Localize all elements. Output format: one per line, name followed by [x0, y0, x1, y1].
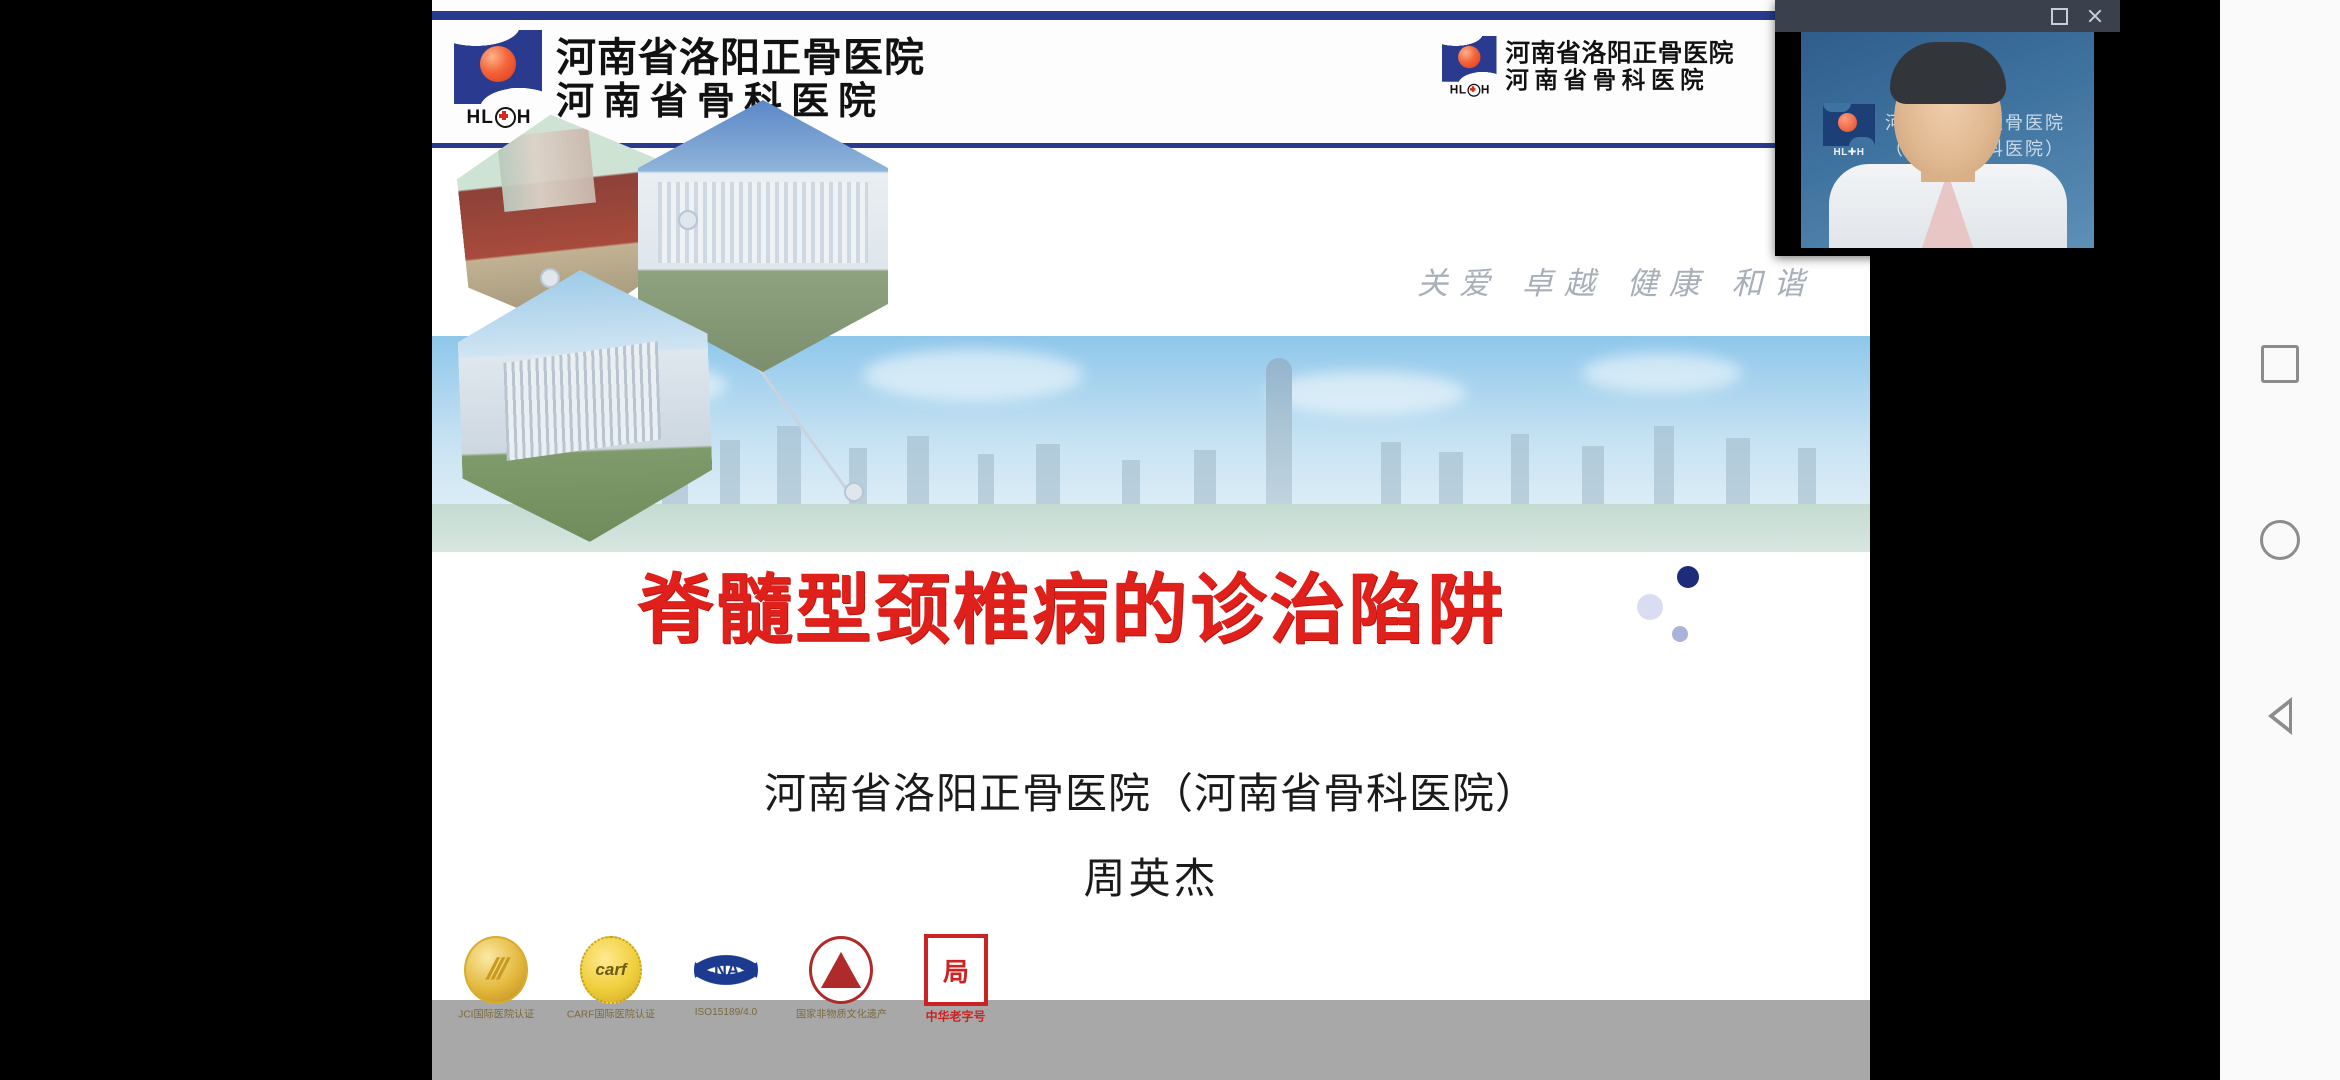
presenter-hair [1890, 42, 2006, 104]
collage-node-1 [678, 210, 698, 230]
maximize-icon[interactable] [2048, 5, 2070, 27]
letterbox-left [0, 0, 432, 1080]
decorative-dot-navy [1677, 566, 1699, 588]
decorative-dot-medium [1672, 626, 1688, 642]
badge-cnas: CNAS ISO15189/4.0 [687, 938, 765, 1018]
cnas-logo-icon: CNAS [694, 941, 758, 999]
android-navigation-bar[interactable] [2220, 0, 2340, 1080]
pip-video-frame: HL✚H 河南省洛阳正骨医院 （河南省骨科医院） [1801, 32, 2094, 248]
hospital-name-secondary-line2: 河南省骨科医院 [1505, 68, 1734, 94]
hospital-name-line1: 河南省洛阳正骨医院 [556, 36, 925, 81]
backdrop-logo-icon: HL✚H [1823, 104, 1875, 162]
badge-time-honored: 局 中华老字号 [917, 938, 995, 1025]
corn-tower-icon [1266, 358, 1292, 518]
badge-jci-seal: /// JCI国际医院认证 [457, 938, 535, 1022]
hospital-motto: 关爱 卓越 健康 和谐 [1417, 258, 1816, 303]
collage-node-3 [844, 482, 864, 502]
badge-caption: ISO15189/4.0 [695, 1006, 757, 1017]
back-button[interactable] [2253, 689, 2307, 743]
badge-caption: 中华老字号 [926, 1007, 986, 1024]
home-button[interactable] [2253, 513, 2307, 567]
triangle-back-icon [2268, 697, 2292, 735]
hospital-name-secondary: 河南省洛阳正骨医院 河南省骨科医院 [1505, 40, 1734, 94]
badge-caption: JCI国际医院认证 [458, 1007, 534, 1022]
badge-caption: 国家非物质文化遗产 [795, 1007, 886, 1022]
decorative-dot-light [1637, 594, 1663, 620]
badge-carf-seal: carf CARF国际医院认证 [572, 938, 650, 1022]
badge-caption: CARF国际医院认证 [567, 1007, 655, 1022]
logo-wordmark-right-secondary: H [1481, 84, 1490, 96]
badge-national-seal: 国家非物质文化遗产 [802, 938, 880, 1022]
presentation-slide[interactable]: HL H 河南省洛阳正骨医院 河南省骨科医院 HL [432, 0, 1870, 1080]
logo-wordmark-left-secondary: HL [1450, 84, 1467, 96]
circle-icon [2260, 520, 2300, 560]
hospital-name-secondary-line1: 河南省洛阳正骨医院 [1505, 40, 1734, 68]
backdrop-logo-wordmark: HL✚H [1823, 147, 1875, 158]
collage-node-2 [540, 268, 560, 288]
square-icon [2261, 345, 2299, 383]
institution-name: 河南省洛阳正骨医院（河南省骨科医院） [432, 760, 1870, 821]
close-icon[interactable] [2084, 5, 2106, 27]
heritage-seal-icon [809, 936, 873, 1004]
medical-cross-icon-secondary [1467, 83, 1480, 96]
pip-title-bar[interactable] [1775, 0, 2120, 32]
time-honored-seal-icon: 局 [924, 934, 988, 1006]
hloh-logo-icon-secondary: HL H [1442, 36, 1497, 98]
carf-seal-icon: carf [580, 936, 642, 1004]
jci-seal-icon: /// [464, 936, 528, 1004]
pip-video-surface[interactable]: HL✚H 河南省洛阳正骨医院 （河南省骨科医院） [1775, 32, 2120, 256]
header-rule-top [432, 11, 1870, 20]
presenter-name: 周英杰 [432, 845, 1870, 906]
accreditation-badges: /// JCI国际医院认证 carf CARF国际医院认证 CNAS ISO15… [457, 938, 995, 1025]
device-screen: HL H 河南省洛阳正骨医院 河南省骨科医院 HL [0, 0, 2340, 1080]
floating-video-window[interactable]: HL✚H 河南省洛阳正骨医院 （河南省骨科医院） [1775, 0, 2120, 256]
recents-button[interactable] [2253, 337, 2307, 391]
slide-title: 脊髓型颈椎病的诊治陷阱 [637, 548, 1537, 658]
hexagon-photo-collage [432, 100, 1072, 570]
hospital-logo-secondary: HL H 河南省洛阳正骨医院 河南省骨科医院 [1442, 36, 1734, 98]
logo-sphere-icon-secondary [1458, 46, 1480, 68]
logo-sphere-icon [480, 46, 516, 82]
